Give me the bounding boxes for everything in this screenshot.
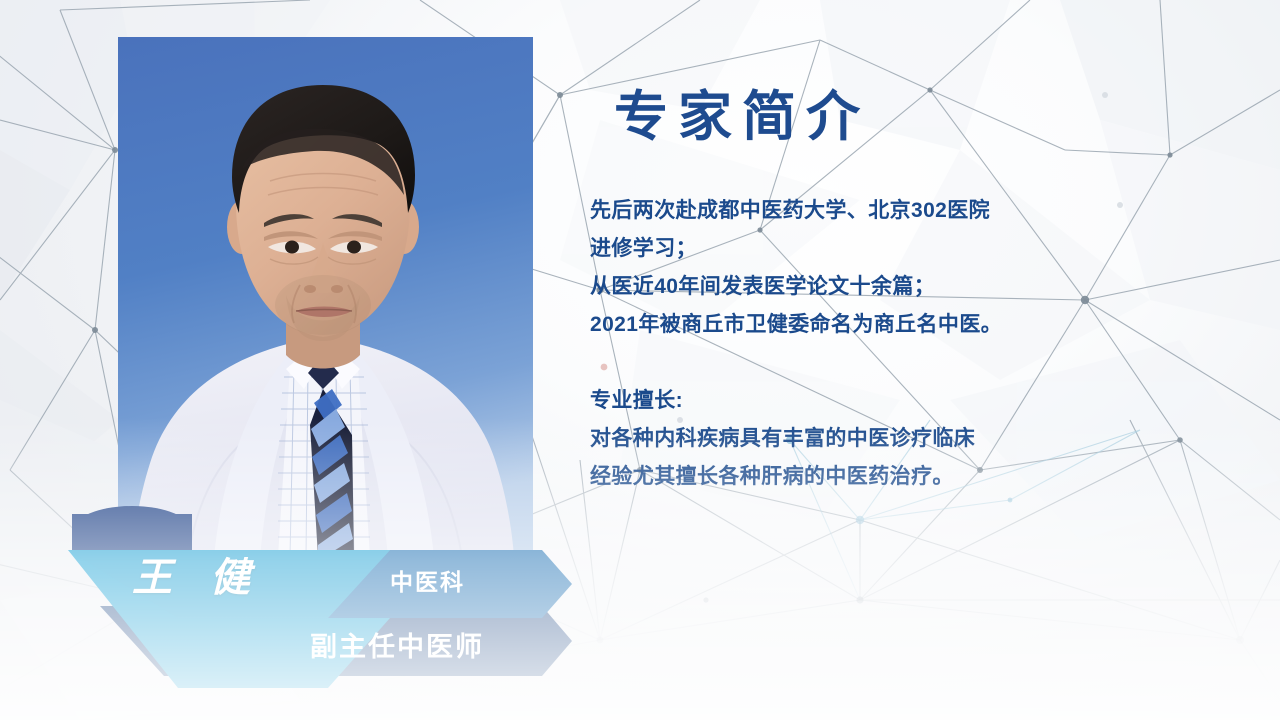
paragraph-spacer [590,344,1110,382]
bio-line: 先后两次赴成都中医药大学、北京302医院 [590,192,1110,230]
name-ribbon [60,498,590,688]
doctor-portrait [118,37,533,557]
expert-profile-slide: 王 健 中医科 副主任中医师 专家简介 先后两次赴成都中医药大学、北京302医院… [0,0,1280,720]
specialty-line: 经验尤其擅长各种肝病的中医药治疗。 [590,458,1110,496]
specialty-line: 对各种内科疾病具有丰富的中医诊疗临床 [590,420,1110,458]
bio-line: 2021年被商丘市卫健委命名为商丘名中医。 [590,306,1110,344]
bio-line: 从医近40年间发表医学论文十余篇； [590,268,1110,306]
bio-line: 进修学习； [590,230,1110,268]
page-title: 专家简介 [614,72,870,151]
bio-text-block: 先后两次赴成都中医药大学、北京302医院 进修学习； 从医近40年间发表医学论文… [590,192,1110,496]
specialty-label: 专业擅长: [590,382,1110,420]
